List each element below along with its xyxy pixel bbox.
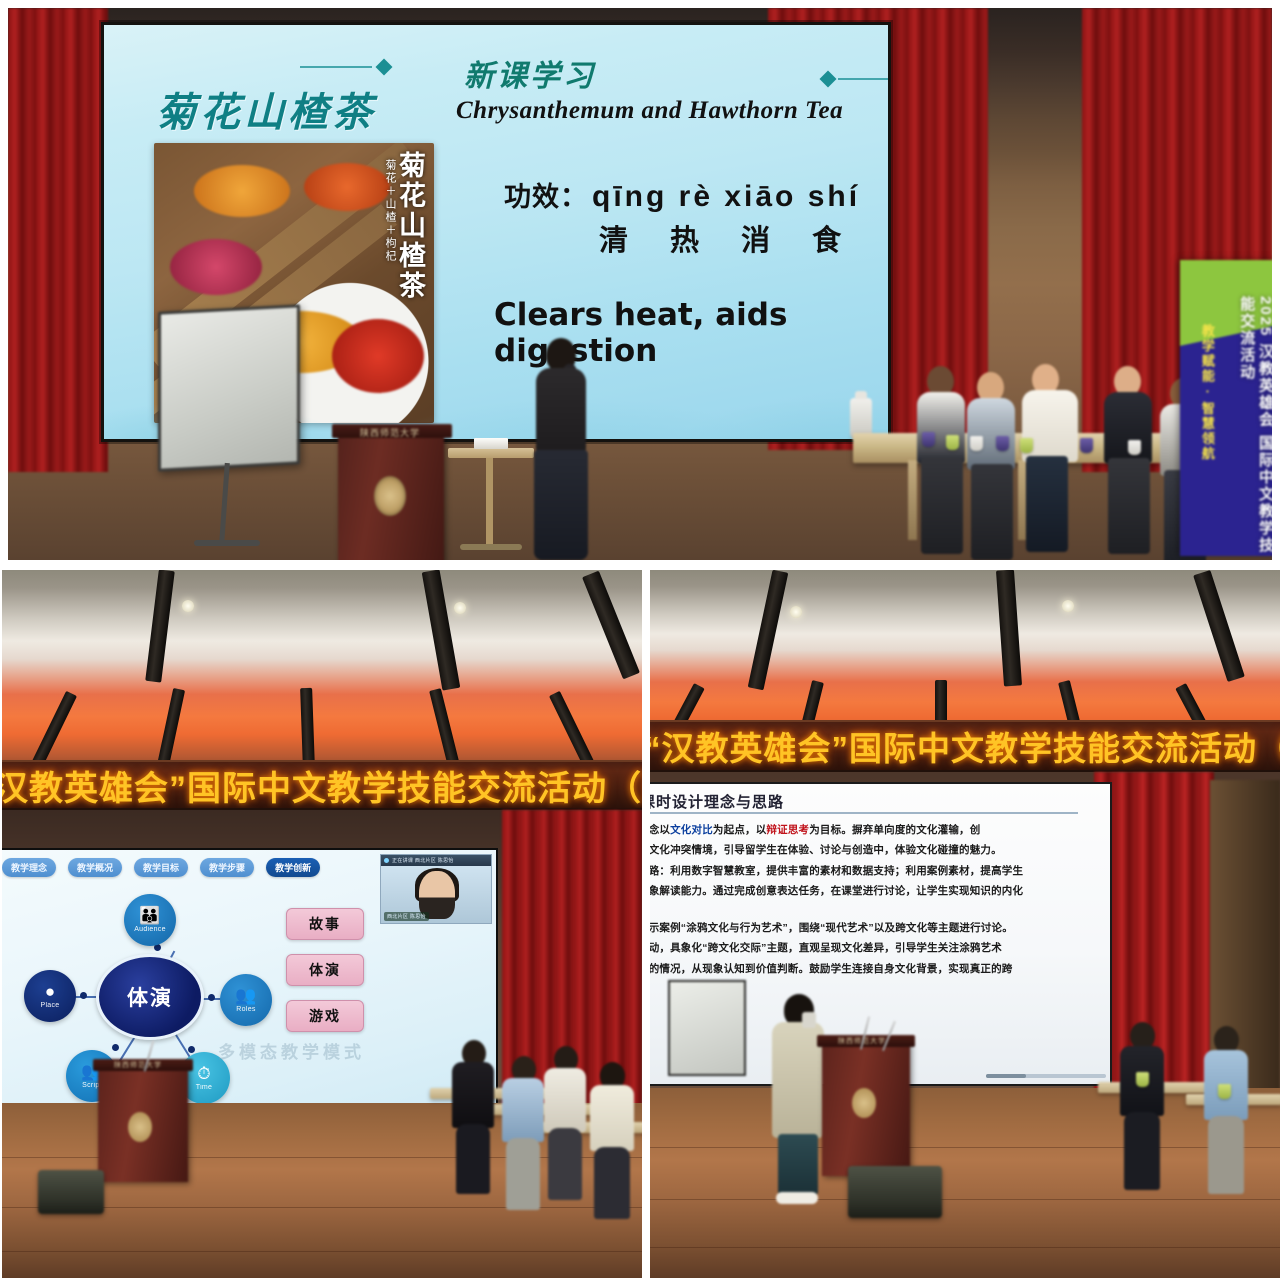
presentation-screen-bl: 教学理念 教学概况 教学目标 教学步骤 教学创新 [2, 848, 498, 1120]
slide-scrollbar-track[interactable] [986, 1074, 1106, 1078]
judge-3-legs [1026, 456, 1068, 552]
whiteboard-foot [194, 540, 260, 546]
podium-bl: 陕西师范大学 [98, 1066, 188, 1182]
mindmap-node-audience-label: Audience [134, 926, 166, 933]
mindmap-node-time-label: Time [196, 1084, 213, 1091]
chip-story: 故事 [286, 908, 364, 940]
slide-title-br: 课时设计理念与思路 [650, 791, 784, 812]
student-1-body [452, 1062, 494, 1128]
floor-seam-br-3 [650, 1247, 1280, 1248]
goji-berry-pile [332, 319, 424, 393]
line-1-seg-a: 理念以 [650, 824, 670, 836]
book-on-side-table [474, 438, 508, 449]
tab-teaching-objectives[interactable]: 教学目标 [134, 858, 188, 877]
judge-br-1-legs [1124, 1112, 1160, 1190]
led-banner-text-br: “汉教英雄会”国际中文教学技能交流活动（西北片 [650, 722, 1280, 770]
slide-line-2: 的文化冲突情境，引导留学生在体验、讨论与创造中，体验文化碰撞的魅力。 [650, 840, 1024, 860]
cup-3 [970, 436, 983, 451]
lectern-podium: 陕西师范大学 [338, 432, 444, 560]
podium-br: 陕西师范大学 [822, 1042, 910, 1176]
small-whiteboard-br [668, 980, 746, 1076]
presenter-skirt [534, 450, 588, 560]
judge-2-legs [971, 464, 1013, 560]
slide-line-3: 思路：利用数字智慧教室，提供丰富的素材和数据支持；利用案例素材，提高学生 [650, 861, 1024, 881]
student-person-4 [588, 1062, 636, 1174]
rose-petal-pile [170, 239, 262, 295]
led-scrolling-banner-bl: 汉教英雄会”国际中文教学技能交流活动（西北片区 [2, 760, 642, 810]
ceiling-spotlight-1-icon [182, 600, 194, 612]
judge-2-torso [967, 398, 1015, 470]
judge-1-legs [921, 458, 963, 554]
university-crest-icon [374, 476, 406, 516]
student-3-legs [548, 1128, 582, 1200]
desk-leg-1 [908, 460, 917, 540]
stage-floor-br [650, 1088, 1280, 1278]
slide-header-new-lesson: 新课学习 [464, 51, 596, 95]
panel-bottom-left-multimodal: 汉教英雄会”国际中文教学技能交流活动（西北片区 教学理念 教学概况 教学目标 教… [2, 570, 642, 1278]
video-call-title-text: 正在讲课 西北片区 陈思怡 [392, 857, 454, 864]
cup-br-1 [1136, 1072, 1149, 1087]
auditorium-ceiling-bl [2, 570, 642, 792]
podium-br-crest-icon [852, 1088, 876, 1118]
floor-speaker-bl [38, 1170, 104, 1214]
slide-title-chinese: 菊花山楂茶 [156, 80, 376, 138]
slide-title-english: Chrysanthemum and Hawthorn Tea [456, 97, 843, 125]
efficacy-hanzi: 清 热 消 食 [599, 217, 858, 259]
cup-4 [996, 436, 1009, 451]
video-call-participant-name: 西北片区 陈思怡 [384, 912, 429, 921]
stage-curtain-left [8, 8, 108, 472]
highlight-dialectical-thinking: 辩证思考 [766, 824, 809, 836]
efficacy-pinyin: qīng rè xiāo shí [592, 180, 860, 214]
video-call-status-icon [384, 858, 389, 863]
slide-line-7: 围的情况，从现象认知到价值判断。鼓励学生连接自身文化背景，实现真正的跨 [650, 959, 1024, 979]
cup-5 [1020, 438, 1033, 453]
diamond-ornament-left-icon [376, 59, 393, 76]
diamond-ornament-right-icon [820, 71, 837, 88]
tab-teaching-innovation[interactable]: 教学创新 [266, 858, 320, 877]
floor-seam-3 [2, 1251, 642, 1252]
student-person-3 [542, 1046, 588, 1156]
side-table-top [448, 448, 534, 458]
cup-2 [946, 435, 959, 450]
hawthorn-pile [304, 163, 390, 211]
chrysanthemum-pile [194, 165, 290, 217]
mindmap-node-audience: 👪 Audience [124, 894, 176, 946]
link-dot-time [188, 1046, 195, 1053]
panel-bottom-right-lesson-design: “汉教英雄会”国际中文教学技能交流活动（西北片 课时设计理念与思路 理念以文化对… [650, 570, 1280, 1278]
efficacy-pinyin-row: 功效： qīng rè xiāo shí [504, 175, 860, 214]
mindmap-node-roles: 👥 Roles [220, 974, 272, 1026]
photo-sublabel-ingredients: 菊花＋山楂＋枸杞 [382, 159, 398, 263]
student-person-2 [500, 1056, 546, 1166]
ceiling-spotlight-2-icon [454, 602, 466, 614]
slide-scrollbar-thumb[interactable] [986, 1074, 1026, 1078]
mindmap-node-place: ● Place [24, 970, 76, 1022]
slide-body-text-br: 理念以文化对比为起点，以辩证思考为目标。摒弃单向度的文化灌输，创 的文化冲突情境… [650, 820, 1024, 979]
presenter-torso [536, 368, 586, 454]
ceiling-spotlight-br-1-icon [790, 606, 802, 618]
floor-speaker-br [848, 1166, 942, 1218]
side-table-foot [460, 544, 522, 550]
location-pin-icon: ● [45, 983, 55, 1000]
line-1-seg-c: 为目标。摒弃单向度的文化灌输，创 [809, 824, 980, 836]
highlight-cultural-contrast: 文化对比 [670, 824, 713, 836]
lectern-university-name: 陕西师范大学 [360, 426, 420, 439]
slide-nav-tabs[interactable]: 教学理念 教学概况 教学目标 教学步骤 教学创新 [2, 858, 320, 877]
slide-rule-right [838, 78, 891, 80]
clock-icon: ⏱ [197, 1065, 210, 1082]
video-call-title-bar: 正在讲课 西北片区 陈思怡 [381, 855, 491, 866]
floor-seam-br-2 [650, 1199, 1280, 1200]
judge-4-torso [1104, 392, 1152, 464]
student-2-legs [506, 1138, 540, 1210]
led-banner-text-bl: 汉教英雄会”国际中文教学技能交流活动（西北片区 [2, 761, 642, 810]
student-2-body [502, 1078, 544, 1142]
cup-1 [922, 432, 935, 447]
slide-line-5: 展示案例“涂鸦文化与行为艺术”，围绕“现代艺术”以及跨文化等主题进行讨论。 [650, 918, 1024, 938]
judge-4-legs [1108, 458, 1150, 554]
ceiling-spotlight-br-2-icon [1062, 600, 1074, 612]
side-table-leg [486, 458, 493, 546]
led-scrolling-banner-br: “汉教英雄会”国际中文教学技能交流活动（西北片 [650, 720, 1280, 772]
audience-icon: 👪 [139, 907, 160, 924]
mindmap-node-place-label: Place [40, 1002, 59, 1009]
chip-performance: 体演 [286, 954, 364, 986]
slide-line-6: 活动，具象化“跨文化交际”主题，直观呈现文化差异，引导学生关注涂鸦艺术 [650, 938, 1024, 958]
link-dot-place [80, 992, 87, 999]
chip-game: 游戏 [286, 1000, 364, 1032]
mindmap-center-node: 体演 [96, 954, 204, 1040]
efficacy-label: 功效： [504, 175, 588, 214]
slide-title-underline-br [650, 812, 1078, 814]
mindmap-node-roles-label: Roles [236, 1006, 255, 1013]
student-1-legs [456, 1124, 490, 1194]
method-chip-column: 故事 体演 游戏 [286, 908, 364, 1032]
link-dot-roles [208, 994, 215, 1001]
judge-1-torso [917, 392, 965, 464]
slide-line-4: 现象解读能力。通过完成创意表达任务，在课堂进行讨论，让学生实现知识的内化 [650, 881, 1024, 901]
rollup-banner-main-text: 2025 汉教英雄会 国际中文教学技能交流活动 [1237, 296, 1273, 556]
panel-top-classroom-demo: 新课学习 菊花山楂茶 Chrysanthemum and Hawthorn Te… [8, 8, 1272, 560]
rollup-banner-poster: 2025 汉教英雄会 国际中文教学技能交流活动 教学赋能 · 智慧领航 [1180, 260, 1272, 556]
judge-br-2-legs [1208, 1116, 1244, 1194]
student-4-legs [594, 1147, 630, 1219]
tab-teaching-overview[interactable]: 教学概况 [68, 858, 122, 877]
teacher-presenter [528, 338, 598, 560]
podium-bl-crest-icon [128, 1112, 152, 1142]
slide-line-gap [650, 902, 1024, 918]
student-3-body [544, 1068, 586, 1132]
tab-teaching-steps[interactable]: 教学步骤 [200, 858, 254, 877]
presenter-br-trousers [778, 1134, 818, 1196]
student-person-1 [450, 1040, 496, 1150]
link-dot-script [112, 1044, 119, 1051]
photo-collage: 新课学习 菊花山楂茶 Chrysanthemum and Hawthorn Te… [0, 0, 1280, 1280]
mobile-whiteboard [158, 304, 300, 471]
student-4-body [590, 1085, 634, 1151]
tab-teaching-philosophy[interactable]: 教学理念 [2, 858, 56, 877]
presenter-br-microphone-icon [802, 1012, 816, 1028]
floor-seam-br-1 [650, 1147, 1280, 1148]
presenter-br-shoes [776, 1192, 818, 1204]
slide-line-1: 理念以文化对比为起点，以辩证思考为目标。摒弃单向度的文化灌输，创 [650, 820, 1024, 840]
podium-bl-university-name: 陕西师范大学 [114, 1060, 162, 1070]
mindmap-center-label: 体演 [127, 982, 173, 1012]
video-call-overlay[interactable]: 正在讲课 西北片区 陈思怡 西北片区 陈思怡 [380, 854, 492, 924]
slide-watermark: 多模态教学模式 [218, 1038, 365, 1063]
roles-icon: 👥 [235, 987, 256, 1004]
slide-rule-left [300, 66, 372, 68]
cup-6 [1080, 438, 1093, 453]
rollup-banner-sub-text: 教学赋能 · 智慧领航 [1198, 324, 1215, 462]
cup-7 [1128, 440, 1141, 455]
line-1-seg-b: 为起点，以 [713, 824, 767, 836]
cup-br-2 [1218, 1084, 1231, 1099]
